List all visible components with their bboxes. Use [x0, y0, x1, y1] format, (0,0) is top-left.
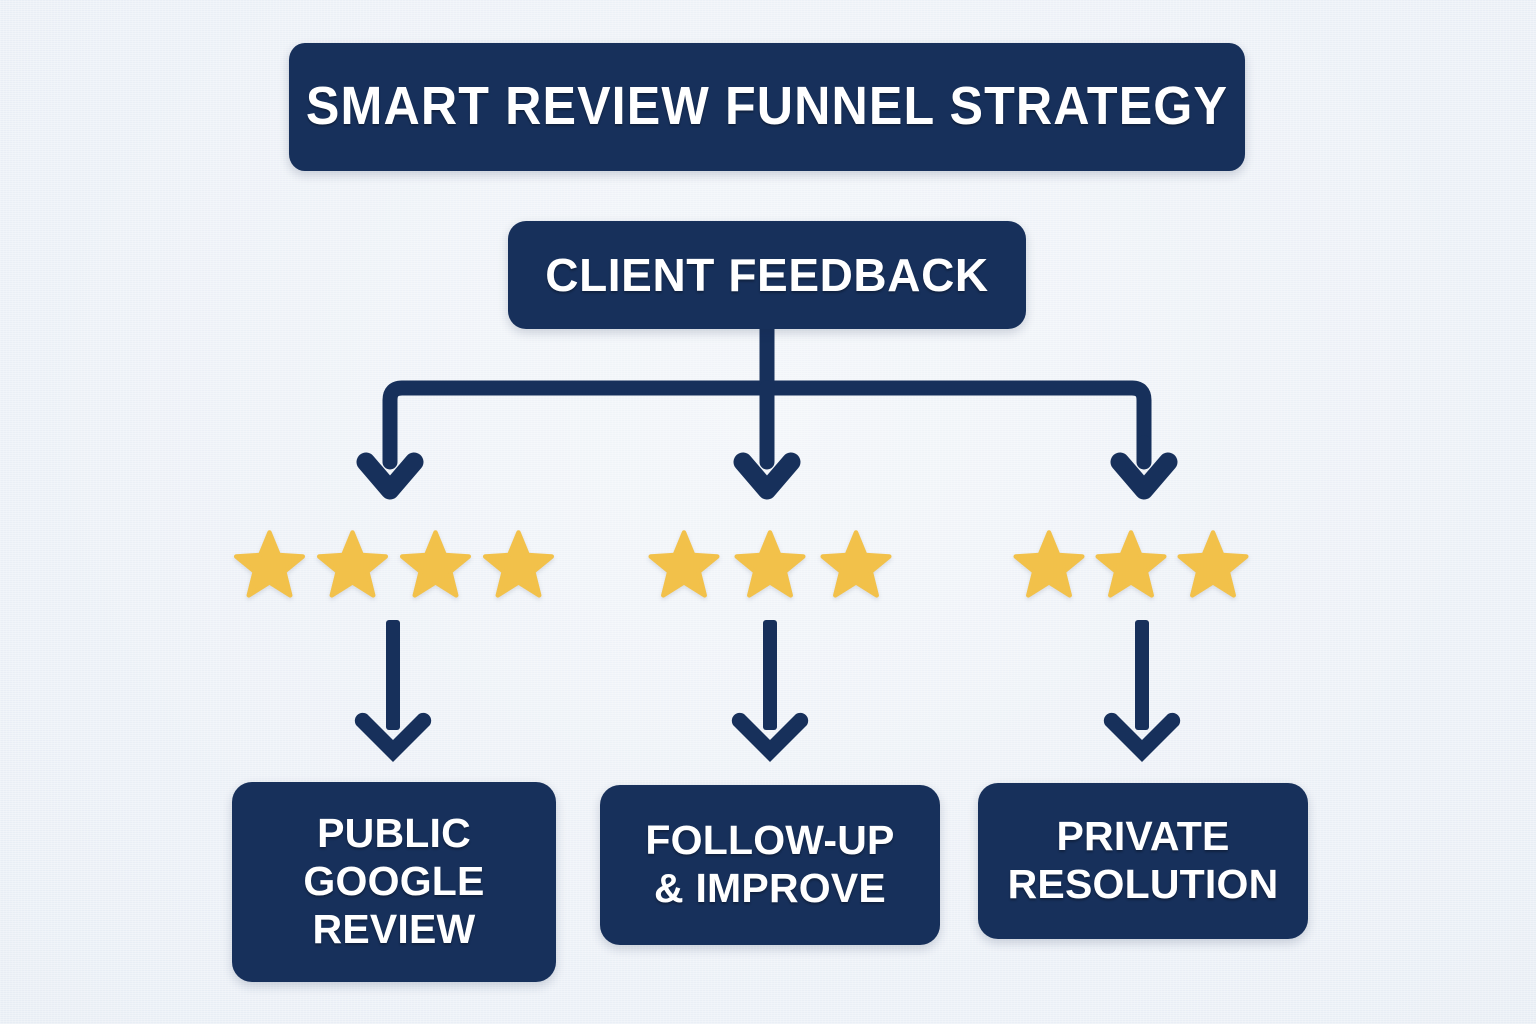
star-icon [645, 528, 723, 602]
node-label-line: RESOLUTION [1008, 861, 1279, 907]
star-icon [1012, 528, 1086, 602]
arrow-down-icon-top-center [743, 462, 791, 490]
node-client-feedback-label: CLIENT FEEDBACK [545, 251, 988, 300]
star-icon [481, 528, 556, 602]
node-label-line: REVIEW [313, 906, 476, 952]
diagram-title: SMART REVIEW FUNNEL STRATEGY [289, 43, 1245, 171]
node-label-line: PRIVATE [1056, 813, 1229, 859]
node-public-google-review[interactable]: PUBLICGOOGLEREVIEW [232, 782, 556, 982]
node-label-line: & IMPROVE [654, 865, 886, 911]
rating-stars-public-google-review [232, 528, 556, 602]
node-label-line: GOOGLE [303, 858, 484, 904]
node-label-line: FOLLOW-UP [645, 817, 894, 863]
node-label-line: PUBLIC [317, 810, 471, 856]
diagram-canvas: SMART REVIEW FUNNEL STRATEGY CLIENT FEED… [0, 0, 1536, 1024]
node-follow-up-improve-label: FOLLOW-UP& IMPROVE [645, 817, 894, 913]
star-icon [1176, 528, 1250, 602]
star-icon [817, 528, 895, 602]
star-icon [232, 528, 307, 602]
star-icon [398, 528, 473, 602]
node-public-google-review-label: PUBLICGOOGLEREVIEW [303, 810, 484, 954]
stage-two-arrows [355, 620, 1180, 762]
connector-split-bar [390, 388, 1144, 443]
arrow-down-icon-top-right [1120, 462, 1168, 490]
arrow-down-icon-bottom-left [355, 620, 431, 762]
rating-stars-follow-up-improve [640, 528, 900, 602]
arrow-down-icon-bottom-center [732, 620, 808, 762]
node-private-resolution[interactable]: PRIVATERESOLUTION [978, 783, 1308, 939]
arrow-down-icon-bottom-right [1104, 620, 1180, 762]
rating-stars-private-resolution [1012, 528, 1250, 602]
node-client-feedback[interactable]: CLIENT FEEDBACK [508, 221, 1026, 329]
star-icon [731, 528, 809, 602]
node-follow-up-improve[interactable]: FOLLOW-UP& IMPROVE [600, 785, 940, 945]
star-icon [315, 528, 390, 602]
arrow-down-icon-top-left [366, 462, 414, 490]
node-private-resolution-label: PRIVATERESOLUTION [1008, 813, 1279, 909]
diagram-title-text: SMART REVIEW FUNNEL STRATEGY [306, 78, 1228, 135]
star-icon [1094, 528, 1168, 602]
